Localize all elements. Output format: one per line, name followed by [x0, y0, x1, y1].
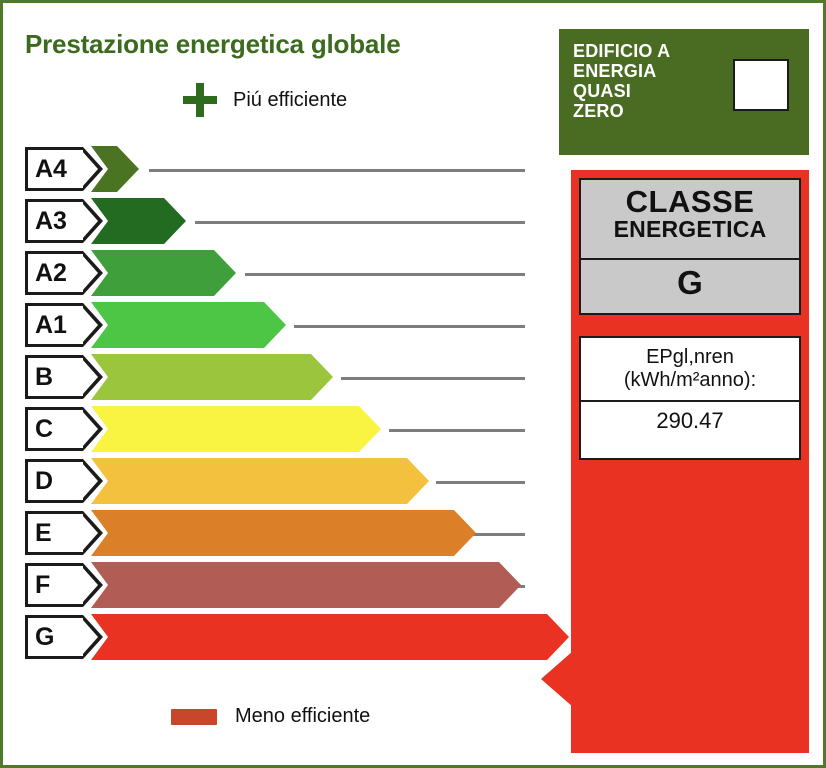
- energy-class-row: F: [3, 559, 559, 611]
- class-tag: A2: [25, 251, 83, 295]
- class-tag: A3: [25, 199, 83, 243]
- class-bar: [91, 250, 236, 296]
- class-tag-tip-inner: [82, 151, 98, 187]
- energy-class-row: A2: [3, 247, 559, 299]
- energy-class-row: B: [3, 351, 559, 403]
- energy-certificate: Prestazione energetica globale Piú effic…: [0, 0, 826, 768]
- most-efficient-label: Piú efficiente: [233, 89, 347, 112]
- class-lead-line: [195, 221, 525, 224]
- class-tag: E: [25, 511, 83, 555]
- class-bar: [91, 510, 476, 556]
- least-efficient-legend: Meno efficiente: [171, 705, 370, 728]
- class-tag: D: [25, 459, 83, 503]
- class-bar: [91, 458, 429, 504]
- class-bar: [91, 406, 381, 452]
- most-efficient-legend: Piú efficiente: [181, 81, 347, 119]
- class-tag: F: [25, 563, 83, 607]
- ep-index-box: EPgl,nren (kWh/m²anno): 290.47: [579, 336, 801, 460]
- class-pointer-arrow-icon: [541, 651, 573, 707]
- class-tag: C: [25, 407, 83, 451]
- class-tag: A4: [25, 147, 83, 191]
- class-tag-tip-inner: [82, 411, 98, 447]
- class-lead-line: [467, 533, 525, 536]
- class-lead-line: [341, 377, 525, 380]
- nzeb-label: EDIFICIO A ENERGIA QUASI ZERO: [573, 41, 670, 122]
- ep-index-label: EPgl,nren (kWh/m²anno):: [581, 346, 799, 392]
- class-tag-tip-inner: [82, 567, 98, 603]
- nzeb-checkbox[interactable]: [733, 59, 789, 111]
- class-tag-tip-inner: [82, 515, 98, 551]
- class-tag-tip-inner: [82, 359, 98, 395]
- ep-index-value: 290.47: [581, 408, 799, 434]
- energy-class-rows: A4A3A2A1BCDEFG: [3, 143, 559, 663]
- energy-class-result-panel: CLASSE ENERGETICA G EPgl,nren (kWh/m²ann…: [571, 170, 809, 753]
- class-pointer-stem: [571, 663, 585, 693]
- class-tag-tip-inner: [82, 307, 98, 343]
- energy-class-row: C: [3, 403, 559, 455]
- page-title: Prestazione energetica globale: [25, 29, 400, 60]
- class-bar: [91, 354, 333, 400]
- dash-marker-icon: [171, 709, 217, 725]
- class-tag-tip-inner: [82, 203, 98, 239]
- least-efficient-label: Meno efficiente: [235, 705, 370, 728]
- nzeb-banner: EDIFICIO A ENERGIA QUASI ZERO: [559, 29, 809, 155]
- energy-class-row: D: [3, 455, 559, 507]
- class-lead-line: [294, 325, 525, 328]
- energy-class-row: G: [3, 611, 559, 663]
- class-tag: G: [25, 615, 83, 659]
- energy-class-title: CLASSE ENERGETICA: [581, 186, 799, 241]
- class-tag-tip-inner: [82, 619, 98, 655]
- divider: [581, 258, 799, 260]
- energy-class-row: E: [3, 507, 559, 559]
- class-lead-line: [149, 169, 525, 172]
- class-tag: B: [25, 355, 83, 399]
- class-lead-line: [245, 273, 525, 276]
- energy-class-row: A3: [3, 195, 559, 247]
- class-tag: A1: [25, 303, 83, 347]
- class-lead-line: [389, 429, 525, 432]
- energy-class-title-line2: ENERGETICA: [581, 218, 799, 241]
- energy-class-row: A4: [3, 143, 559, 195]
- class-bar: [91, 198, 186, 244]
- class-tag-tip-inner: [82, 463, 98, 499]
- energy-class-value: G: [581, 264, 799, 302]
- plus-icon: [181, 81, 219, 119]
- divider: [581, 400, 799, 402]
- energy-class-row: A1: [3, 299, 559, 351]
- energy-class-box: CLASSE ENERGETICA G: [579, 178, 801, 315]
- class-tag-tip-inner: [82, 255, 98, 291]
- class-bar: [91, 562, 521, 608]
- class-lead-line: [436, 481, 525, 484]
- energy-class-title-line1: CLASSE: [581, 186, 799, 218]
- class-bar: [91, 302, 286, 348]
- class-bar: [91, 614, 569, 660]
- energy-scale-panel: Prestazione energetica globale Piú effic…: [3, 3, 559, 765]
